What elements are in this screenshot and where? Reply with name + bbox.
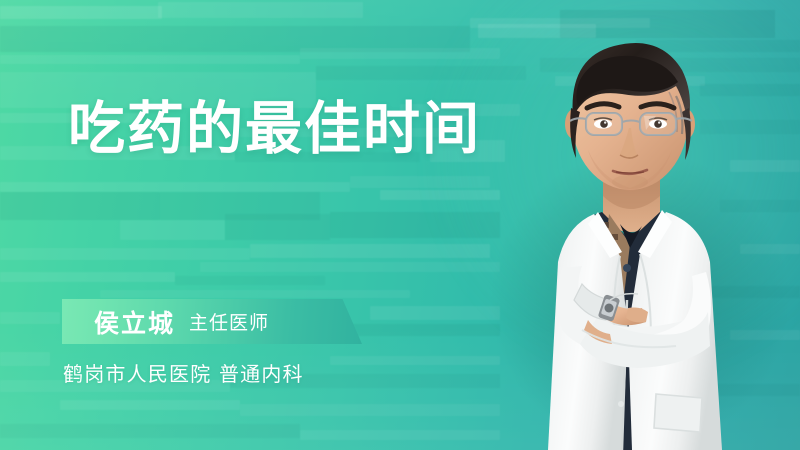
doctor-rank: 主任医师 — [189, 308, 269, 335]
page-title: 吃药的最佳时间 — [68, 96, 481, 162]
doctor-name-banner: 侯立城 主任医师 — [62, 299, 362, 344]
doctor-photo — [470, 0, 800, 450]
doctor-name: 侯立城 — [94, 304, 175, 340]
doctor-affiliation: 鹤岗市人民医院 普通内科 — [63, 358, 304, 387]
video-thumbnail: 吃药的最佳时间 侯立城 主任医师 鹤岗市人民医院 普通内科 — [0, 0, 800, 450]
